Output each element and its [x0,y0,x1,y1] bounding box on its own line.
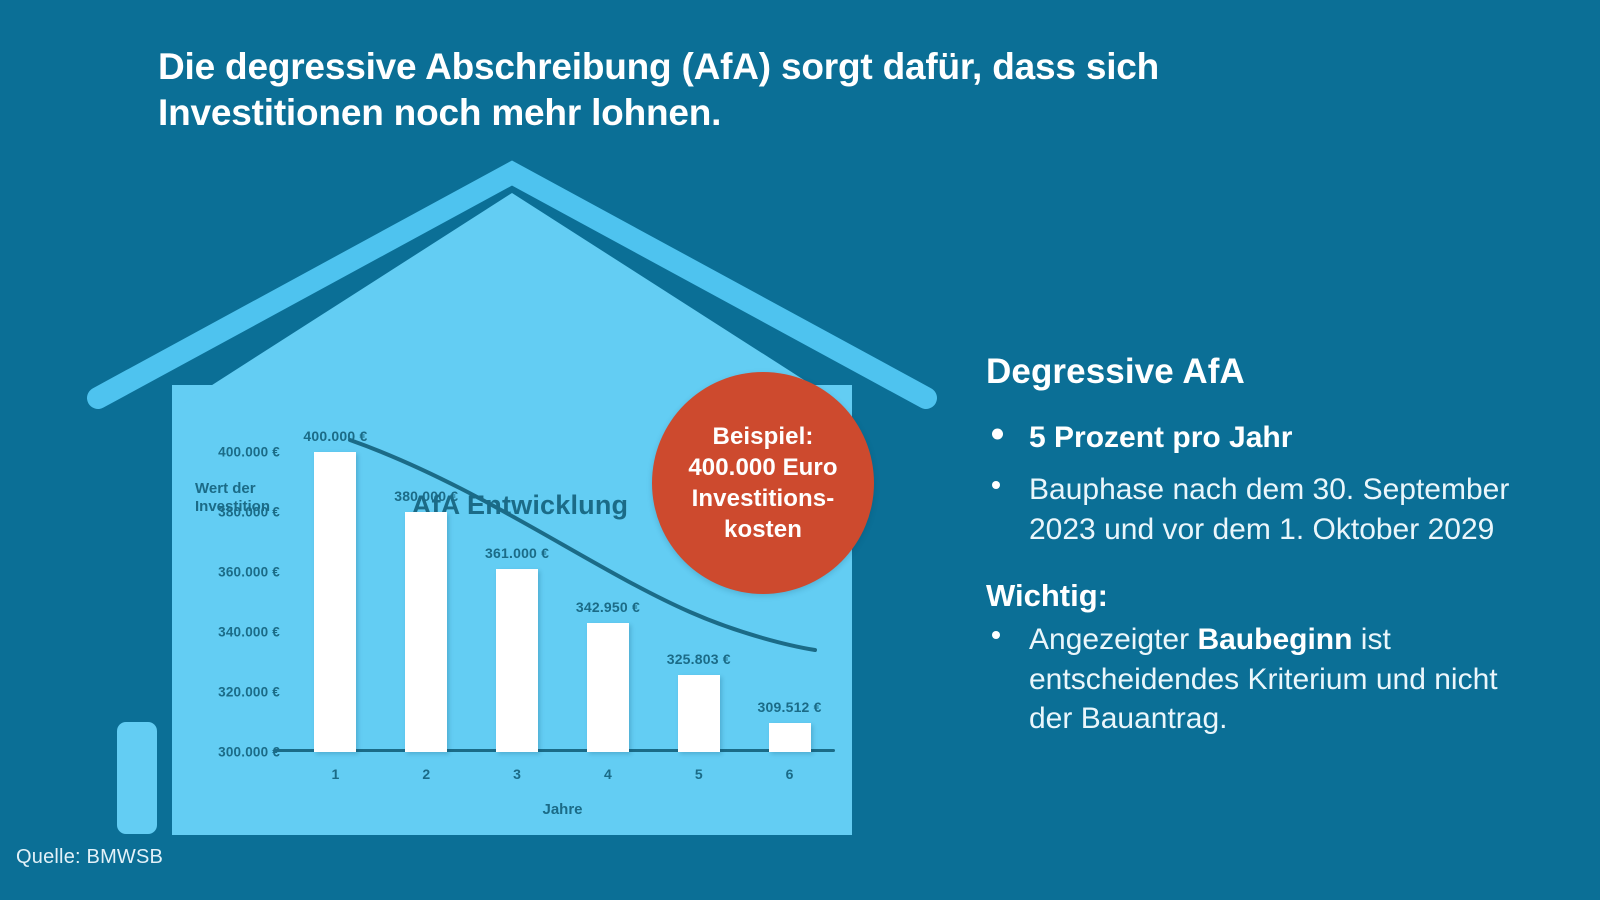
page-title-line-2: Investitionen noch mehr lohnen. [158,90,1338,136]
bar-value-label: 309.512 € [758,699,822,715]
bar-value-label: 325.803 € [667,651,731,667]
x-axis-tick-label: 2 [422,766,430,782]
panel-bullet-text: Bauphase nach dem 30. September 2023 und… [1029,473,1509,546]
chart-bar [314,452,356,752]
important-bullet-list: Angezeigter Baubeginn ist entscheidendes… [986,620,1546,740]
y-axis-tick-label: 380.000 € [188,505,280,520]
panel-bullet-item: 5 Prozent pro Jahr [986,418,1546,458]
bullet-dot-icon [992,428,1003,439]
page-title-line-1: Die degressive Abschreibung (AfA) sorgt … [158,44,1338,90]
chart-bar [769,723,811,752]
panel-bullet-list: 5 Prozent pro JahrBauphase nach dem 30. … [986,418,1546,550]
example-callout-text: Beispiel: 400.000 Euro Investitions- kos… [688,421,837,546]
bullet-dot-icon [992,481,1000,489]
y-axis-tick-label: 320.000 € [188,685,280,700]
important-bullet-item: Angezeigter Baubeginn ist entscheidendes… [986,620,1546,740]
bar-value-label: 400.000 € [303,428,367,444]
x-axis-tick-label: 1 [332,766,340,782]
bar-value-label: 380.000 € [394,488,458,504]
panel-bullet-item: Bauphase nach dem 30. September 2023 und… [986,470,1546,550]
chart-bar [587,623,629,752]
y-axis-ticks: 400.000 €380.000 €360.000 €340.000 €320.… [188,400,280,840]
bar-value-label: 361.000 € [485,545,549,561]
chart-bar [405,512,447,752]
panel-bullet-text: 5 Prozent pro Jahr [1029,421,1292,454]
bullet-dot-icon [992,631,1000,639]
panel-title: Degressive AfA [986,352,1546,392]
chart-bar [678,675,720,752]
y-axis-tick-label: 340.000 € [188,625,280,640]
important-heading: Wichtig: [986,578,1546,614]
x-axis-tick-label: 5 [695,766,703,782]
x-axis-tick-label: 3 [513,766,521,782]
source-label: Quelle: BMWSB [16,846,163,869]
infographic-canvas: Die degressive Abschreibung (AfA) sorgt … [0,0,1600,900]
x-axis-tick-label: 6 [786,766,794,782]
x-axis-tick-label: 4 [604,766,612,782]
x-axis-title: Jahre [290,801,835,818]
info-panel: Degressive AfA 5 Prozent pro JahrBauphas… [986,352,1546,741]
bar-value-label: 342.950 € [576,599,640,615]
important-bullet-emphasis: Baubeginn [1197,623,1352,656]
x-axis-line [274,749,835,752]
y-axis-tick-label: 400.000 € [188,445,280,460]
important-bullet-text-prefix: Angezeigter [1029,623,1197,656]
chart-bar [496,569,538,752]
y-axis-tick-label: 360.000 € [188,565,280,580]
page-title: Die degressive Abschreibung (AfA) sorgt … [158,44,1338,136]
example-callout-badge: Beispiel: 400.000 Euro Investitions- kos… [652,372,874,594]
y-axis-tick-label: 300.000 € [188,745,280,760]
house-door [117,722,157,834]
